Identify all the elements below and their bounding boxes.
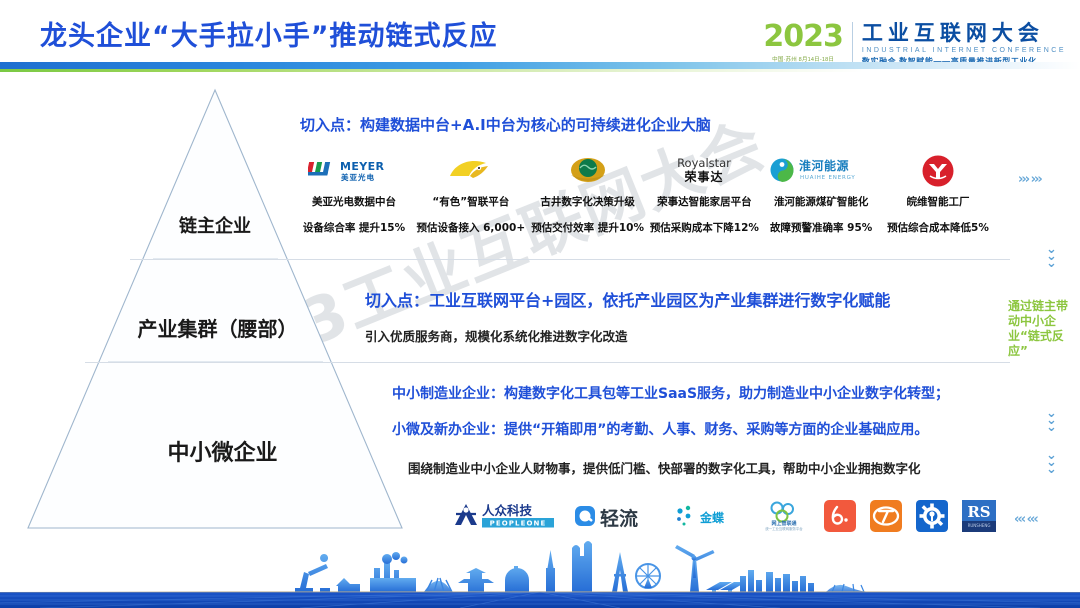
- kingdee-logo: 金蝶: [672, 499, 744, 533]
- svg-text:金蝶: 金蝶: [699, 510, 725, 525]
- svg-text:轻流: 轻流: [600, 507, 638, 530]
- company-name: 古井数字化决策升级: [530, 194, 646, 209]
- company-name: 美亚光电数据中台: [296, 194, 412, 209]
- company-metric: 预估交付效率 提升10%: [530, 220, 646, 235]
- company-card-meyer: MEYER 美亚光电 美亚光电数据中台 设备综合率 提升15%: [296, 152, 412, 235]
- svg-text:HUAIHE ENERGY: HUAIHE ENERGY: [800, 175, 856, 181]
- pyramid-tier-label-1: 产业集群（腰部）: [95, 313, 340, 342]
- company-card-huaihe: 淮河能源 HUAIHE ENERGY 淮河能源煤矿智能化 故障预警准确率 95%: [763, 152, 879, 235]
- company-card-royalstar: Royalstar 荣事达 荣事达智能家居平台 预估采购成本下降12%: [646, 152, 762, 235]
- chevron-down-icon: ⌄: [1046, 424, 1057, 431]
- arrows-left-bottom: ‹‹‹ ‹‹‹: [1014, 512, 1037, 527]
- conference-logo-divider: [852, 22, 853, 67]
- company-metric: 设备综合率 提升15%: [296, 220, 412, 235]
- tier-divider-1: [130, 259, 1010, 260]
- svg-text:荣事达: 荣事达: [684, 169, 724, 184]
- company-metric: 预估综合成本降低5%: [880, 220, 996, 235]
- conference-year-block: 2023 中国·苏州 8月14日-18日: [763, 22, 852, 63]
- company-card-youse: “有色”智联平台 预估设备接入 6,000+: [413, 152, 529, 235]
- svg-text:网上智联通: 网上智联通: [771, 520, 796, 527]
- conference-name-en: INDUSTRIAL INTERNET CONFERENCE: [862, 47, 1066, 54]
- gear-logo: [916, 499, 948, 533]
- tier2-heading: 切入点：工业互联网平台+园区，依托产业园区为产业集群进行数字化赋能: [365, 287, 890, 311]
- bsix-logo: [824, 499, 856, 533]
- rs-logo: RS RUNSHENG: [962, 499, 996, 533]
- svg-text:美亚光电: 美亚光电: [341, 172, 375, 182]
- svg-text:RS: RS: [967, 503, 990, 521]
- pyramid-tier-label-2: 中小微企业: [105, 435, 340, 467]
- tier2-note: 引入优质服务商，规模化系统化推进数字化改造: [365, 326, 628, 345]
- svg-text:Royalstar: Royalstar: [677, 156, 731, 170]
- page-title: 龙头企业“大手拉小手”推动链式反应: [40, 14, 498, 53]
- arrows-right-top: ››› ›››: [1018, 172, 1041, 187]
- svg-text:淮河能源: 淮河能源: [799, 158, 849, 173]
- orange-logo: [870, 499, 902, 533]
- company-name: 皖维智能工厂: [880, 194, 996, 209]
- conference-name-block: 工业互联网大会 INDUSTRIAL INTERNET CONFERENCE 数…: [862, 22, 1066, 67]
- pyramid-tier-label-0: 链主企业: [120, 212, 310, 238]
- company-name: 荣事达智能家居平台: [646, 194, 762, 209]
- arrows-down-3: ⌄ ⌄ ⌄: [1046, 452, 1057, 473]
- company-card-wanwei: 皖维智能工厂 预估综合成本降低5%: [880, 152, 996, 235]
- conference-year: 2023: [763, 22, 843, 52]
- wangshang-logo: 网上智联通 统一工业互联网服务平台: [758, 499, 810, 533]
- wanwei-logo: [880, 152, 996, 190]
- svg-text:人众科技: 人众科技: [482, 503, 533, 518]
- footer-skyline: [0, 540, 1080, 608]
- chevron-down-icon: ⌄: [1046, 466, 1057, 473]
- header-rule-green: [0, 69, 1080, 72]
- tier3-line-2: 小微及新办企业：提供“开箱即用”的考勤、人事、财务、采购等方面的企业基础应用。: [392, 419, 928, 439]
- huaihe-logo: 淮河能源 HUAIHE ENERGY: [763, 152, 879, 190]
- meyer-logo: MEYER 美亚光电: [296, 152, 412, 190]
- tier1-company-row: MEYER 美亚光电 美亚光电数据中台 设备综合率 提升15% “有色”智联平台…: [296, 152, 996, 235]
- svg-text:MEYER: MEYER: [340, 160, 385, 173]
- gujing-logo: [530, 152, 646, 190]
- slide-canvas: 2023工业互联网大会 龙头企业“大手拉小手”推动链式反应 2023 中国·苏州…: [0, 0, 1080, 608]
- svg-text:统一工业互联网服务平台: 统一工业互联网服务平台: [765, 526, 803, 531]
- company-name: 淮河能源煤矿智能化: [763, 194, 879, 209]
- conference-name-cn: 工业互联网大会: [862, 22, 1066, 45]
- chevron-down-icon: ⌄: [1046, 260, 1057, 267]
- company-metric: 预估设备接入 6,000+: [413, 220, 529, 235]
- slide-header: 龙头企业“大手拉小手”推动链式反应 2023 中国·苏州 8月14日-18日 工…: [0, 0, 1080, 72]
- arrows-down-2: ⌄ ⌄ ⌄: [1046, 410, 1057, 431]
- peopleone-logo: 人众科技 PEOPLEONE: [452, 499, 560, 533]
- company-metric: 预估采购成本下降12%: [646, 220, 762, 235]
- partner-logo-row: 人众科技 PEOPLEONE 轻流 金蝶: [452, 499, 996, 533]
- side-callout-text: 通过链主带动中小企业“链式反应”: [1008, 299, 1074, 359]
- svg-text:PEOPLEONE: PEOPLEONE: [490, 520, 547, 528]
- svg-text:RUNSHENG: RUNSHENG: [968, 523, 991, 528]
- tier-divider-2: [85, 362, 1010, 363]
- company-name: “有色”智联平台: [413, 194, 529, 209]
- qingliu-logo: 轻流: [574, 499, 658, 533]
- tier3-note: 围绕制造业中小企业人财物事，提供低门槛、快部署的数字化工具，帮助中小企业拥抱数字…: [408, 458, 921, 477]
- youse-logo: [413, 152, 529, 190]
- tier3-line-1: 中小制造业企业：构建数字化工具包等工业SaaS服务，助力制造业中小企业数字化转型…: [392, 383, 949, 403]
- arrows-down-1: ⌄ ⌄ ⌄: [1046, 246, 1057, 267]
- header-rule-blue: [0, 62, 1080, 69]
- tier1-heading: 切入点：构建数据中台+A.I中台为核心的可持续进化企业大脑: [300, 114, 711, 135]
- royalstar-logo: Royalstar 荣事达: [646, 152, 762, 190]
- company-metric: 故障预警准确率 95%: [763, 220, 879, 235]
- company-card-gujing: 古井数字化决策升级 预估交付效率 提升10%: [530, 152, 646, 235]
- conference-logo: 2023 中国·苏州 8月14日-18日 工业互联网大会 INDUSTRIAL …: [763, 22, 1066, 67]
